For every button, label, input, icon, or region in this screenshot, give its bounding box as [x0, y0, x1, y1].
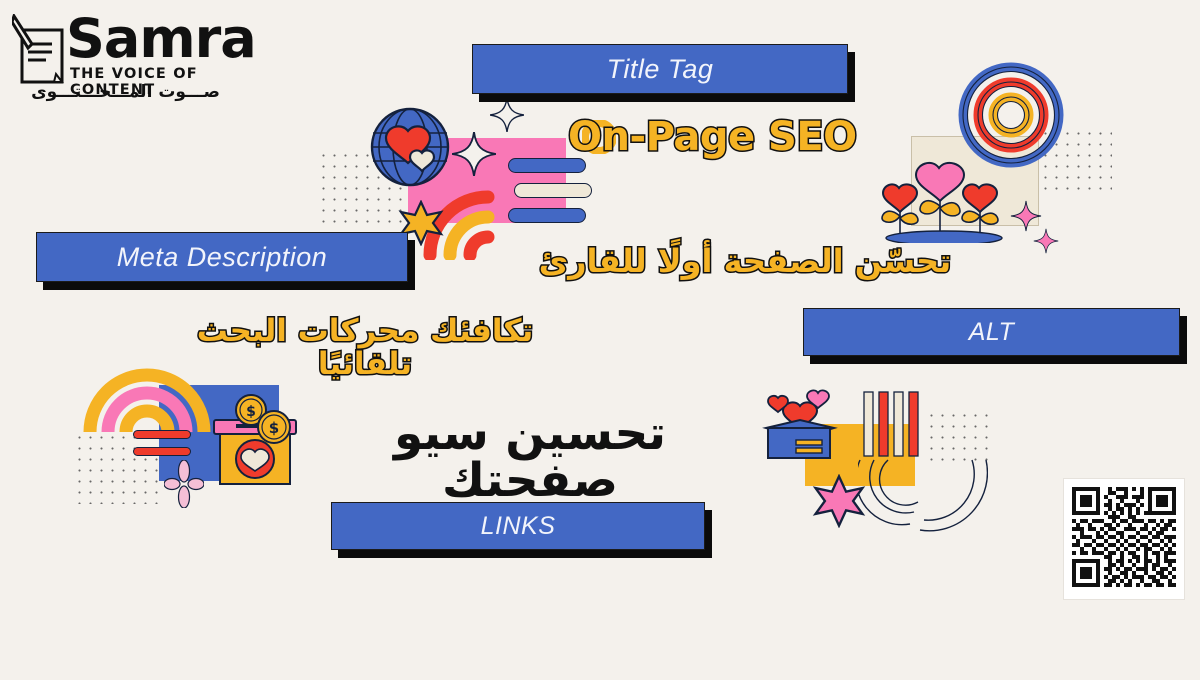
headline-on-page-seo: On-Page SEO [568, 114, 857, 160]
gift-box-hearts [760, 384, 840, 464]
logo-wordmark: Samra [66, 12, 256, 66]
banner-meta-description-label: Meta Description [117, 242, 328, 273]
bullseye-target [958, 62, 1064, 168]
headline-arabic-1: تحسّن الصفحة أولًا للقارئ [510, 242, 980, 280]
banner-meta-description[interactable]: Meta Description [36, 232, 408, 282]
thin-arc-lines [858, 450, 988, 540]
banner-title-tag[interactable]: Title Tag [472, 44, 848, 94]
logo-arabic-tagline: صـــوت المـــحـــتـــوى [18, 82, 233, 102]
pink-flower [164, 460, 204, 508]
pink-sparkle-icon [1033, 228, 1059, 254]
banner-links[interactable]: LINKS [331, 502, 705, 550]
svg-text:$: $ [269, 419, 279, 437]
pink-burst-star [812, 474, 866, 528]
pill-bars [508, 158, 586, 226]
headline-arabic-main: تحسين سيو صفحتك [360, 410, 700, 504]
sparkle-icon [490, 98, 524, 132]
banner-alt[interactable]: ALT [803, 308, 1180, 356]
heart-flowers [880, 158, 1010, 243]
sparkle-icon [452, 132, 496, 176]
qr-code-image [1072, 487, 1176, 591]
globe-hearts-illustration [368, 105, 452, 189]
pill-bars [133, 430, 191, 462]
banner-title-tag-label: Title Tag [607, 54, 714, 85]
svg-text:$: $ [246, 404, 256, 420]
qr-code[interactable] [1063, 478, 1185, 600]
banner-alt-label: ALT [969, 318, 1015, 347]
headline-arabic-2: تكافئك محركات البحث تلقائيًا [150, 315, 580, 380]
poster-canvas: Samra THE VOICE OF CONTENT صـــوت المـــ… [0, 0, 1200, 680]
banner-links-label: LINKS [481, 512, 556, 541]
brand-logo[interactable]: Samra THE VOICE OF CONTENT صـــوت المـــ… [8, 6, 248, 106]
dollar-coins: $ $ [232, 394, 294, 446]
